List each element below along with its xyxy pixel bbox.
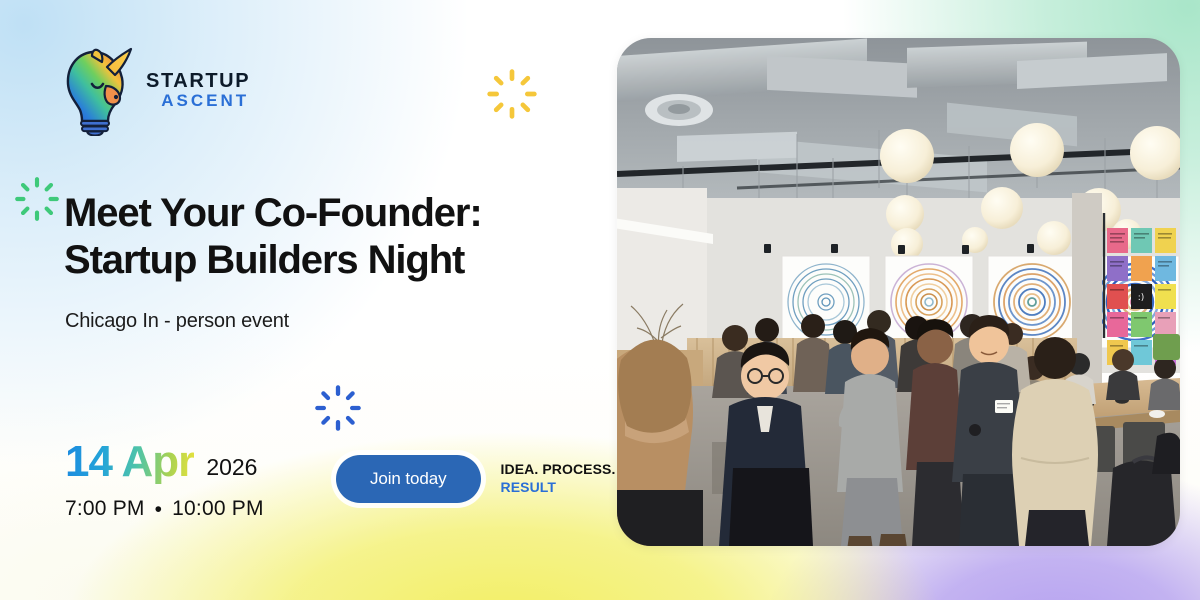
tagline-line1: IDEA. PROCESS. xyxy=(501,461,616,479)
svg-text::): :) xyxy=(1138,293,1145,303)
event-title-line2: Startup Builders Night xyxy=(64,237,584,284)
unicorn-lightbulb-icon xyxy=(62,44,134,136)
event-date-block: 14 Apr 2026 xyxy=(65,440,257,484)
time-separator-dot: • xyxy=(155,499,163,520)
event-year: 2026 xyxy=(206,456,257,484)
brand-logo[interactable]: STARTUP ASCENT xyxy=(62,44,250,136)
event-subtitle: Chicago In - person event xyxy=(65,310,289,333)
sparkle-burst-blue-icon xyxy=(314,384,362,432)
cta-block: Join today IDEA. PROCESS. RESULT xyxy=(336,455,615,503)
event-photo: :) xyxy=(617,38,1180,546)
event-time-start: 7:00 PM xyxy=(65,497,145,521)
event-title: Meet Your Co-Founder: Startup Builders N… xyxy=(64,190,584,284)
event-photo-illustration: :) xyxy=(617,38,1180,546)
sparkle-burst-yellow-icon xyxy=(486,68,538,120)
event-time-end: 10:00 PM xyxy=(172,497,264,521)
event-time-block: 7:00 PM • 10:00 PM xyxy=(65,497,264,521)
event-title-line1: Meet Your Co-Founder: xyxy=(64,190,584,237)
brand-name-ascent: ASCENT xyxy=(161,92,249,110)
brand-name-startup: STARTUP xyxy=(146,71,250,92)
event-date: 14 Apr xyxy=(65,440,194,484)
sparkle-burst-green-icon xyxy=(14,176,60,222)
brand-tagline: IDEA. PROCESS. RESULT xyxy=(501,461,616,497)
join-today-button[interactable]: Join today xyxy=(336,455,481,503)
brand-wordmark: STARTUP ASCENT xyxy=(146,71,250,109)
tagline-line2: RESULT xyxy=(501,479,616,497)
